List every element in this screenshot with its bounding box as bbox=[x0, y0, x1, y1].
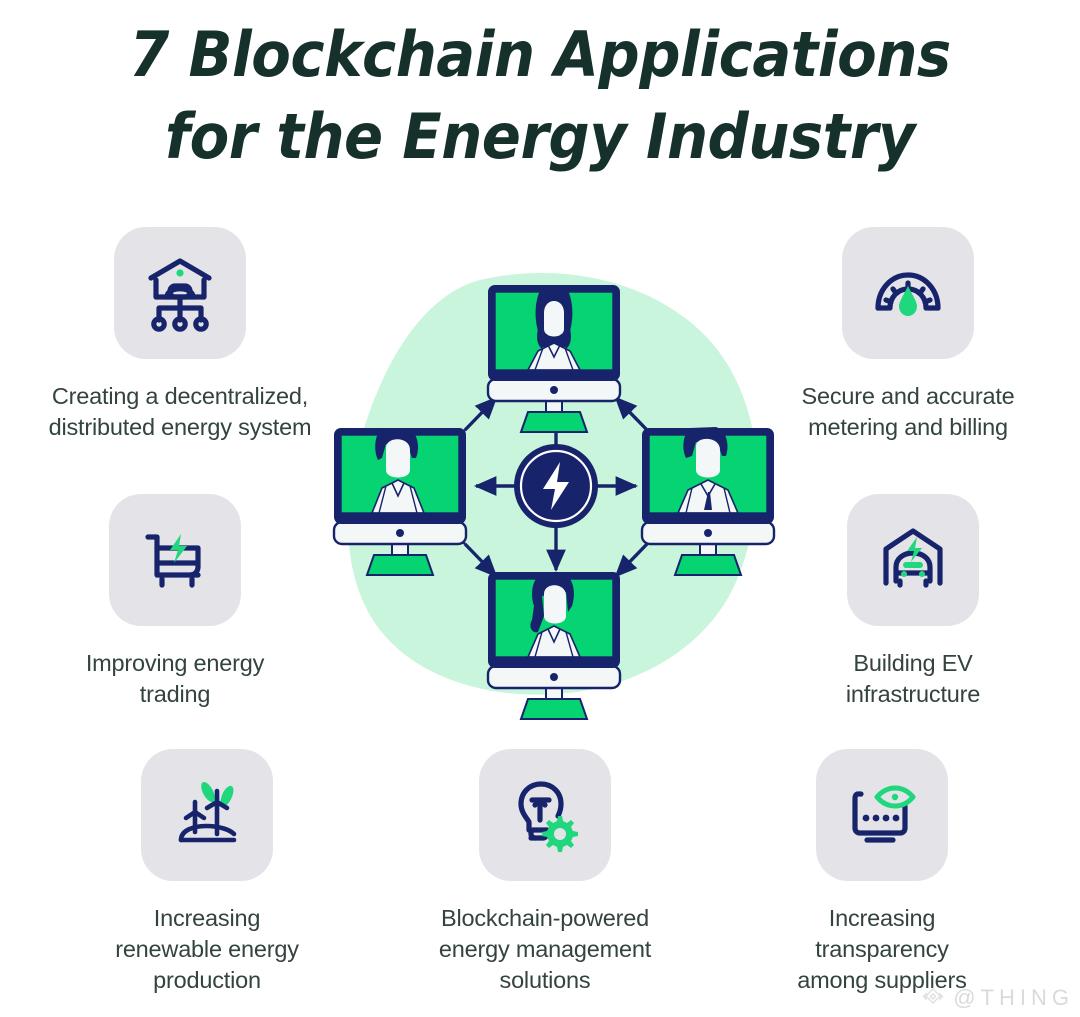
item-ev[interactable]: Building EV infrastructure bbox=[768, 494, 1058, 710]
diamond-logo-icon bbox=[920, 985, 946, 1011]
monitor-node-bottom bbox=[488, 572, 620, 719]
energy-hub bbox=[514, 444, 598, 528]
item-label-transparency: Increasing transparency among suppliers bbox=[797, 903, 966, 996]
title-line-2: for the Energy Industry bbox=[38, 96, 1042, 178]
screen-eye-transparency-icon bbox=[839, 772, 925, 858]
item-decentralized[interactable]: Creating a decentralized, distributed en… bbox=[20, 227, 340, 443]
item-transparency[interactable]: Increasing transparency among suppliers bbox=[742, 749, 1022, 996]
watermark-text: @THING bbox=[953, 985, 1074, 1011]
central-network-illustration bbox=[330, 252, 782, 720]
shopping-cart-energy-icon bbox=[132, 517, 218, 603]
distributed-energy-network-icon bbox=[137, 250, 223, 336]
item-label-metering: Secure and accurate metering and billing bbox=[801, 381, 1014, 443]
item-management[interactable]: Blockchain-powered energy management sol… bbox=[400, 749, 690, 996]
icon-tile-ev bbox=[847, 494, 979, 626]
item-label-trading: Improving energy trading bbox=[86, 648, 264, 710]
green-lightning-bolt bbox=[907, 537, 922, 562]
item-renewable[interactable]: Increasing renewable energy production bbox=[62, 749, 352, 996]
icon-tile-renewable bbox=[141, 749, 273, 881]
data-dots bbox=[863, 815, 900, 822]
lightbulb-gear-icon bbox=[502, 772, 588, 858]
icon-tile-transparency bbox=[816, 749, 948, 881]
watermark: @THING bbox=[920, 985, 1074, 1011]
energy-meter-gauge-icon bbox=[865, 250, 951, 336]
infographic-root: 7 Blockchain Applications for the Energy… bbox=[0, 0, 1080, 1017]
item-metering[interactable]: Secure and accurate metering and billing bbox=[748, 227, 1068, 443]
green-accent-dot bbox=[176, 269, 183, 276]
icon-tile-metering bbox=[842, 227, 974, 359]
icon-tile-management bbox=[479, 749, 611, 881]
page-title: 7 Blockchain Applications for the Energy… bbox=[0, 14, 1080, 178]
green-gear bbox=[542, 816, 578, 852]
item-trading[interactable]: Improving energy trading bbox=[30, 494, 320, 710]
title-line-1: 7 Blockchain Applications bbox=[38, 14, 1042, 96]
icon-tile-decentralized bbox=[114, 227, 246, 359]
green-lightning-bolt bbox=[170, 534, 187, 563]
icon-tile-trading bbox=[109, 494, 241, 626]
item-label-management: Blockchain-powered energy management sol… bbox=[439, 903, 651, 996]
wind-turbines-icon bbox=[164, 772, 250, 858]
item-label-ev: Building EV infrastructure bbox=[846, 648, 980, 710]
item-label-decentralized: Creating a decentralized, distributed en… bbox=[49, 381, 312, 443]
item-label-renewable: Increasing renewable energy production bbox=[115, 903, 299, 996]
ev-charging-garage-icon bbox=[870, 517, 956, 603]
